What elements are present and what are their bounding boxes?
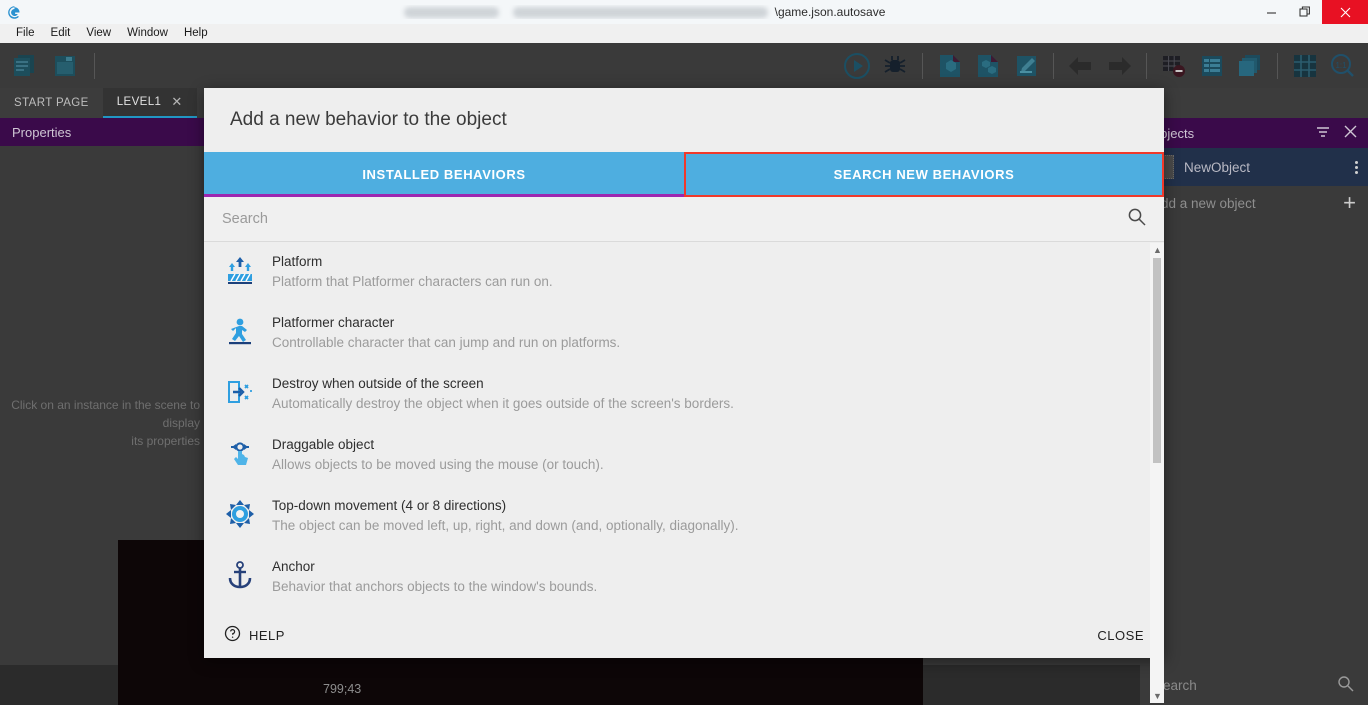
behavior-name: Platformer character [272, 314, 620, 332]
title-bar: \game.json.autosave [0, 0, 1368, 24]
tab-installed-behaviors-label: INSTALLED BEHAVIORS [362, 167, 525, 182]
list-item[interactable]: Platform Platform that Platformer charac… [204, 242, 1164, 303]
menu-item-help[interactable]: Help [176, 24, 216, 43]
destroy-outside-screen-icon [224, 375, 256, 409]
add-external-layout-icon[interactable] [971, 49, 1005, 83]
app-window: \game.json.autosave File Edit View Windo… [0, 0, 1368, 705]
object-list-item[interactable]: NewObject [1140, 148, 1368, 186]
add-scene-icon[interactable] [933, 49, 967, 83]
toolbar-separator-3 [1053, 53, 1054, 79]
menu-item-file[interactable]: File [8, 24, 43, 43]
add-new-object-row[interactable]: Add a new object + [1140, 186, 1368, 220]
app-logo-icon [0, 0, 28, 24]
scrollbar-thumb[interactable] [1153, 258, 1161, 463]
help-label: HELP [249, 628, 285, 643]
behavior-search-placeholder: Search [222, 211, 1127, 227]
close-dialog-button[interactable]: CLOSE [1097, 628, 1144, 643]
objects-panel: Objects NewObject Add a new obje [1140, 118, 1368, 665]
open-properties-icon[interactable] [1195, 49, 1229, 83]
preview-play-icon[interactable] [840, 49, 874, 83]
menu-bar: File Edit View Window Help [0, 24, 1368, 43]
close-icon[interactable] [1343, 124, 1358, 142]
properties-panel-header: Properties [0, 118, 204, 146]
add-new-object-label: Add a new object [1152, 196, 1256, 211]
behavior-description: Controllable character that can jump and… [272, 333, 620, 353]
window-title: \game.json.autosave [28, 5, 1254, 19]
toolbar-separator [94, 53, 95, 79]
behavior-name: Platform [272, 253, 553, 271]
search-icon[interactable] [1337, 675, 1354, 695]
tab-level1-label: LEVEL1 [117, 96, 162, 108]
list-item[interactable]: Platformer character Controllable charac… [204, 303, 1164, 364]
new-project-icon[interactable] [8, 49, 42, 83]
behavior-name: Anchor [272, 558, 597, 576]
add-behavior-dialog: Add a new behavior to the object INSTALL… [204, 88, 1164, 658]
behavior-list[interactable]: Platform Platform that Platformer charac… [204, 242, 1164, 612]
behavior-description: Automatically destroy the object when it… [272, 394, 734, 414]
platformer-character-icon [224, 314, 256, 348]
close-window-button[interactable] [1322, 0, 1368, 24]
add-external-events-icon[interactable] [1009, 49, 1043, 83]
properties-empty-hint: Click on an instance in the scene to dis… [0, 396, 204, 450]
restore-button[interactable] [1288, 0, 1322, 24]
behavior-name: Draggable object [272, 436, 604, 454]
toolbar-separator-5 [1277, 53, 1278, 79]
title-redacted-1 [404, 7, 499, 18]
toolbar-right-group: 1:1 [840, 49, 1368, 83]
hide-grid-icon[interactable] [1157, 49, 1191, 83]
search-icon[interactable] [1127, 207, 1146, 231]
properties-hint-line-2: its properties [0, 432, 200, 450]
open-layers-icon[interactable] [1233, 49, 1267, 83]
dialog-footer: HELP CLOSE [204, 612, 1164, 658]
window-controls [1254, 0, 1368, 24]
toggle-grid-icon[interactable] [1288, 49, 1322, 83]
toolbar-separator-2 [922, 53, 923, 79]
tab-search-new-behaviors-label: SEARCH NEW BEHAVIORS [834, 167, 1015, 182]
svg-text:1:1: 1:1 [1335, 61, 1347, 70]
list-item[interactable]: Draggable object Allows objects to be mo… [204, 425, 1164, 486]
behavior-description: Allows objects to be moved using the mou… [272, 455, 604, 475]
platform-icon [224, 253, 256, 287]
menu-item-edit[interactable]: Edit [43, 24, 79, 43]
objects-search-bar[interactable]: Search [1140, 665, 1368, 705]
scroll-up-arrow-icon[interactable]: ▲ [1153, 245, 1162, 255]
title-redacted-2 [513, 7, 768, 18]
object-name: NewObject [1184, 160, 1250, 175]
tab-start-page-label: START PAGE [14, 97, 89, 109]
debug-bug-icon[interactable] [878, 49, 912, 83]
tab-start-page[interactable]: START PAGE [0, 88, 103, 118]
properties-panel-title: Properties [12, 125, 71, 140]
help-button[interactable]: HELP [224, 625, 285, 645]
draggable-object-icon [224, 436, 256, 470]
top-down-movement-icon [224, 497, 256, 531]
dialog-tab-bar: INSTALLED BEHAVIORS SEARCH NEW BEHAVIORS [204, 152, 1164, 197]
behavior-description: Behavior that anchors objects to the win… [272, 577, 597, 597]
plus-icon[interactable]: + [1343, 194, 1356, 212]
tab-installed-behaviors[interactable]: INSTALLED BEHAVIORS [204, 152, 684, 197]
toolbar-left-group [0, 49, 101, 83]
toolbar-separator-4 [1146, 53, 1147, 79]
window-title-text: \game.json.autosave [775, 5, 886, 19]
objects-panel-header: Objects [1140, 118, 1368, 148]
filter-icon[interactable] [1315, 124, 1331, 143]
menu-item-view[interactable]: View [78, 24, 119, 43]
open-project-icon[interactable] [48, 49, 82, 83]
behavior-description: Platform that Platformer characters can … [272, 272, 553, 292]
redo-icon[interactable] [1102, 49, 1136, 83]
undo-icon[interactable] [1064, 49, 1098, 83]
cursor-coordinates: 799;43 [323, 682, 361, 696]
scroll-down-arrow-icon[interactable]: ▼ [1153, 691, 1162, 701]
tab-search-new-behaviors[interactable]: SEARCH NEW BEHAVIORS [684, 152, 1164, 197]
list-item[interactable]: Destroy when outside of the screen Autom… [204, 364, 1164, 425]
list-item[interactable]: Anchor Behavior that anchors objects to … [204, 547, 1164, 608]
minimize-button[interactable] [1254, 0, 1288, 24]
behavior-search-field[interactable]: Search [204, 197, 1164, 242]
three-dots-icon[interactable] [1355, 161, 1358, 174]
dialog-title: Add a new behavior to the object [204, 88, 1164, 152]
behavior-name: Top-down movement (4 or 8 directions) [272, 497, 739, 515]
behavior-name: Destroy when outside of the screen [272, 375, 734, 393]
properties-hint-line-1: Click on an instance in the scene to dis… [0, 396, 200, 432]
behavior-list-scrollbar[interactable]: ▲ ▼ [1150, 243, 1164, 703]
menu-item-window[interactable]: Window [119, 24, 176, 43]
question-circle-icon [224, 625, 241, 645]
tab-close-icon[interactable]: ✕ [171, 94, 182, 110]
tab-level1[interactable]: LEVEL1 ✕ [103, 88, 197, 118]
main-toolbar: 1:1 [0, 43, 1368, 88]
anchor-icon [224, 558, 256, 592]
zoom-one-to-one-icon[interactable]: 1:1 [1326, 49, 1360, 83]
behavior-description: The object can be moved left, up, right,… [272, 516, 739, 536]
list-item[interactable]: Top-down movement (4 or 8 directions) Th… [204, 486, 1164, 547]
